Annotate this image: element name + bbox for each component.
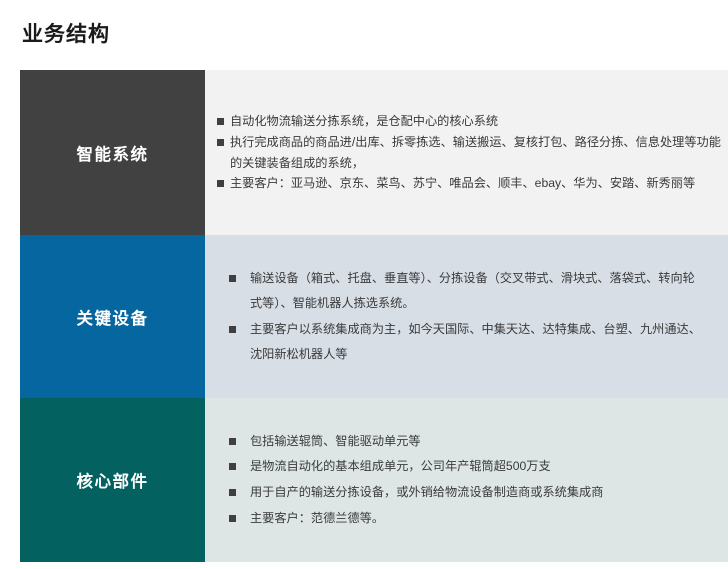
row-content-intelligent-system: 自动化物流输送分拣系统，是仓配中心的核心系统 执行完成商品的商品进/出库、拆零拣… <box>205 70 728 235</box>
list-item: 主要客户以系统集成商为主，如今天国际、中集天达、达特集成、台塑、九州通达、沈阳新… <box>229 317 706 367</box>
list-item-text: 用于自产的输送分拣设备，或外销给物流设备制造商或系统集成商 <box>250 480 706 506</box>
table-row: 关键设备 输送设备（箱式、托盘、垂直等）、分拣设备（交叉带式、滑块式、落袋式、转… <box>20 235 728 398</box>
list-item-text: 主要客户以系统集成商为主，如今天国际、中集天达、达特集成、台塑、九州通达、沈阳新… <box>250 317 706 367</box>
list-item-text: 执行完成商品的商品进/出库、拆零拣选、输送搬运、复核打包、路径分拣、信息处理等功… <box>230 132 724 174</box>
row-content-core-components: 包括输送辊筒、智能驱动单元等 是物流自动化的基本组成单元，公司年产辊筒超500万… <box>205 398 728 562</box>
table-row: 核心部件 包括输送辊筒、智能驱动单元等 是物流自动化的基本组成单元，公司年产辊筒… <box>20 398 728 562</box>
list-item: 主要客户：范德兰德等。 <box>229 506 706 532</box>
list-item: 包括输送辊筒、智能驱动单元等 <box>229 429 706 455</box>
list-item-text: 主要客户：亚马逊、京东、菜鸟、苏宁、唯品会、顺丰、ebay、华为、安踏、新秀丽等 <box>230 173 724 194</box>
list-item: 主要客户：亚马逊、京东、菜鸟、苏宁、唯品会、顺丰、ebay、华为、安踏、新秀丽等 <box>217 173 724 194</box>
page-title: 业务结构 <box>22 24 110 45</box>
row-label-core-components: 核心部件 <box>20 398 205 562</box>
list-item: 自动化物流输送分拣系统，是仓配中心的核心系统 <box>217 111 724 132</box>
table-row: 智能系统 自动化物流输送分拣系统，是仓配中心的核心系统 执行完成商品的商品进/出… <box>20 70 728 235</box>
list-item-text: 自动化物流输送分拣系统，是仓配中心的核心系统 <box>230 111 724 132</box>
row-label-text: 智能系统 <box>77 141 149 165</box>
list-item: 执行完成商品的商品进/出库、拆零拣选、输送搬运、复核打包、路径分拣、信息处理等功… <box>217 132 724 174</box>
list-item: 是物流自动化的基本组成单元，公司年产辊筒超500万支 <box>229 454 706 480</box>
square-bullet-icon <box>229 489 236 496</box>
row-label-text: 核心部件 <box>77 468 149 492</box>
list-item-text: 输送设备（箱式、托盘、垂直等）、分拣设备（交叉带式、滑块式、落袋式、转向轮式等）… <box>250 266 706 316</box>
square-bullet-icon <box>229 275 236 282</box>
list-item: 用于自产的输送分拣设备，或外销给物流设备制造商或系统集成商 <box>229 480 706 506</box>
square-bullet-icon <box>229 326 236 333</box>
square-bullet-icon <box>217 118 224 125</box>
list-item-text: 包括输送辊筒、智能驱动单元等 <box>250 429 706 455</box>
square-bullet-icon <box>217 139 224 146</box>
list-item-text: 是物流自动化的基本组成单元，公司年产辊筒超500万支 <box>250 454 706 480</box>
row-label-key-equipment: 关键设备 <box>20 235 205 398</box>
row-label-text: 关键设备 <box>77 305 149 329</box>
list-item: 输送设备（箱式、托盘、垂直等）、分拣设备（交叉带式、滑块式、落袋式、转向轮式等）… <box>229 266 706 316</box>
square-bullet-icon <box>217 180 224 187</box>
square-bullet-icon <box>229 515 236 522</box>
list-item-text: 主要客户：范德兰德等。 <box>250 506 706 532</box>
square-bullet-icon <box>229 463 236 470</box>
square-bullet-icon <box>229 438 236 445</box>
row-content-key-equipment: 输送设备（箱式、托盘、垂直等）、分拣设备（交叉带式、滑块式、落袋式、转向轮式等）… <box>205 235 728 398</box>
business-structure-table: 智能系统 自动化物流输送分拣系统，是仓配中心的核心系统 执行完成商品的商品进/出… <box>20 70 728 562</box>
row-label-intelligent-system: 智能系统 <box>20 70 205 235</box>
